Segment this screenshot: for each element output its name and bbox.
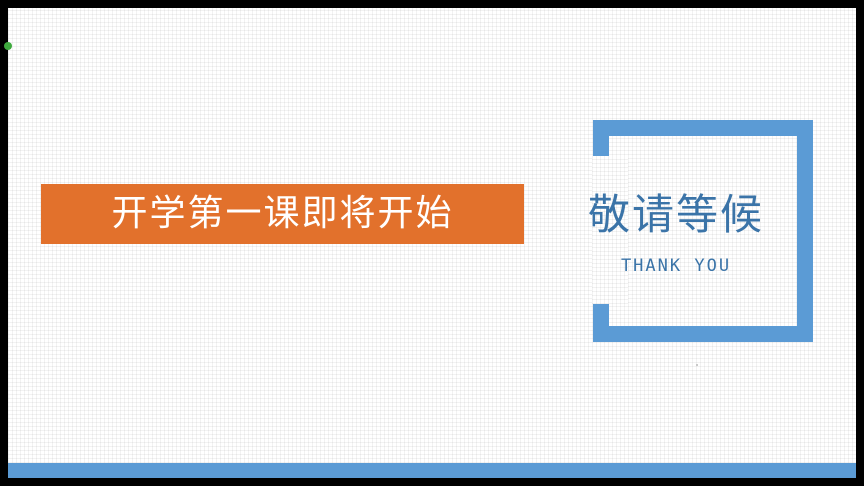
decorative-dot <box>696 364 698 366</box>
bottom-accent-bar <box>8 463 856 478</box>
selection-dot-icon[interactable] <box>4 42 12 50</box>
slide-canvas[interactable]: 开学第一课即将开始 敬请等候 THANK YOU <box>8 8 856 463</box>
orange-title-banner[interactable]: 开学第一课即将开始 <box>41 184 524 244</box>
headline-text: 敬请等候 <box>536 194 816 236</box>
subline-text: THANK YOU <box>536 258 816 275</box>
slide-frame: 开学第一课即将开始 敬请等候 THANK YOU <box>0 0 864 486</box>
banner-title-text: 开学第一课即将开始 <box>111 196 453 232</box>
